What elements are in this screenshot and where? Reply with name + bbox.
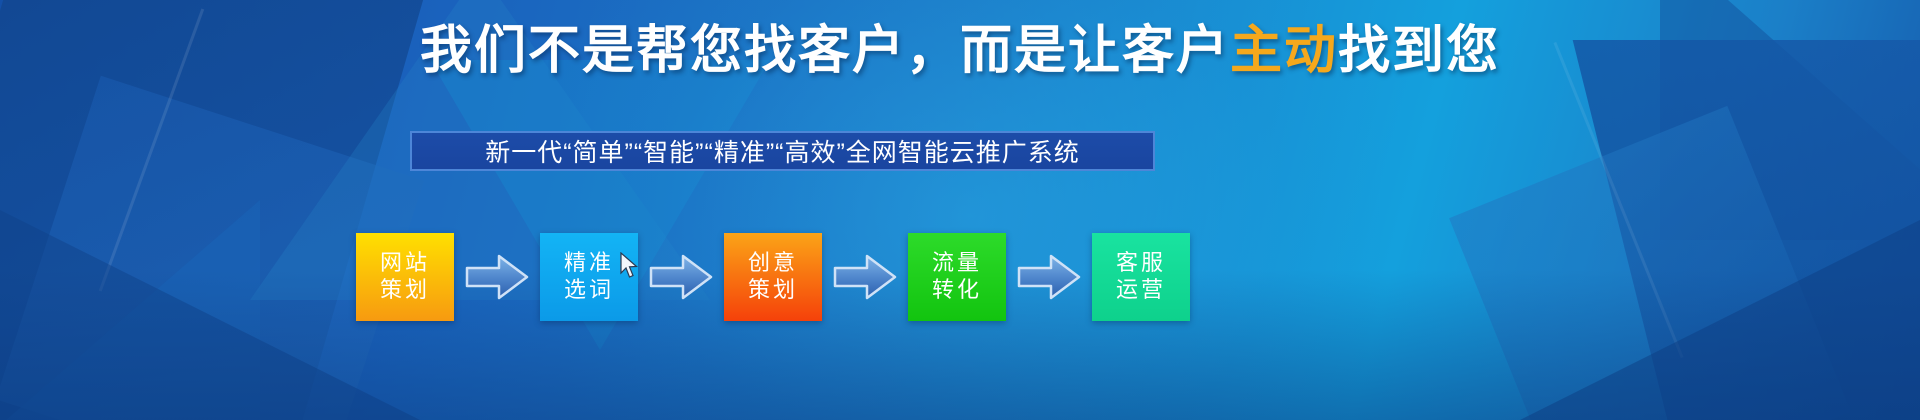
step-arrow-slot <box>822 253 908 301</box>
arrow-right-icon <box>833 253 897 301</box>
step-label-line2: 策划 <box>380 277 430 304</box>
step-label-line2: 运营 <box>1116 277 1166 304</box>
step-label-line1: 客服 <box>1116 250 1166 277</box>
bg-facet-right-dark <box>1573 40 1920 420</box>
headline-part-after: 找到您 <box>1338 22 1500 80</box>
bg-facet-streak-right <box>1553 42 1683 358</box>
subtitle-text: 新一代“简单”“智能”“精准”“高效”全网智能云推广系统 <box>485 133 1080 169</box>
arrow-right-icon <box>465 253 529 301</box>
promo-banner: 我们不是帮您找客户，而是让客户主动找到您 新一代“简单”“智能”“精准”“高效”… <box>0 0 1920 420</box>
mouse-pointer-icon <box>620 252 640 285</box>
step-box-customer-service-operation[interactable]: 客服运营 <box>1092 233 1190 321</box>
process-step-row: 网站策划精准选词创意策划流量转化客服运营 <box>356 232 1566 322</box>
step-label-line2: 转化 <box>932 277 982 304</box>
step-arrow-slot <box>638 253 724 301</box>
step-label-line2: 选词 <box>564 277 614 304</box>
arrow-right-icon <box>649 253 713 301</box>
arrow-right-icon <box>1017 253 1081 301</box>
step-label-line1: 创意 <box>748 250 798 277</box>
headline-part-before: 我们不是帮您找客户，而是让客户 <box>420 22 1230 80</box>
step-box-creative-planning[interactable]: 创意策划 <box>724 233 822 321</box>
bg-facet-bottom-right <box>1520 220 1920 420</box>
step-label-line1: 网站 <box>380 250 430 277</box>
step-box-website-planning[interactable]: 网站策划 <box>356 233 454 321</box>
headline-accent: 主动 <box>1230 22 1338 80</box>
banner-headline: 我们不是帮您找客户，而是让客户主动找到您 <box>0 22 1920 82</box>
step-label-line1: 精准 <box>564 250 614 277</box>
step-label-line2: 策划 <box>748 277 798 304</box>
step-label-line1: 流量 <box>932 250 982 277</box>
step-arrow-slot <box>454 253 540 301</box>
step-arrow-slot <box>1006 253 1092 301</box>
subtitle-band: 新一代“简单”“智能”“精准”“高效”全网智能云推广系统 <box>410 131 1155 171</box>
step-box-traffic-conversion[interactable]: 流量转化 <box>908 233 1006 321</box>
bg-facet-left-triangle <box>0 200 260 420</box>
